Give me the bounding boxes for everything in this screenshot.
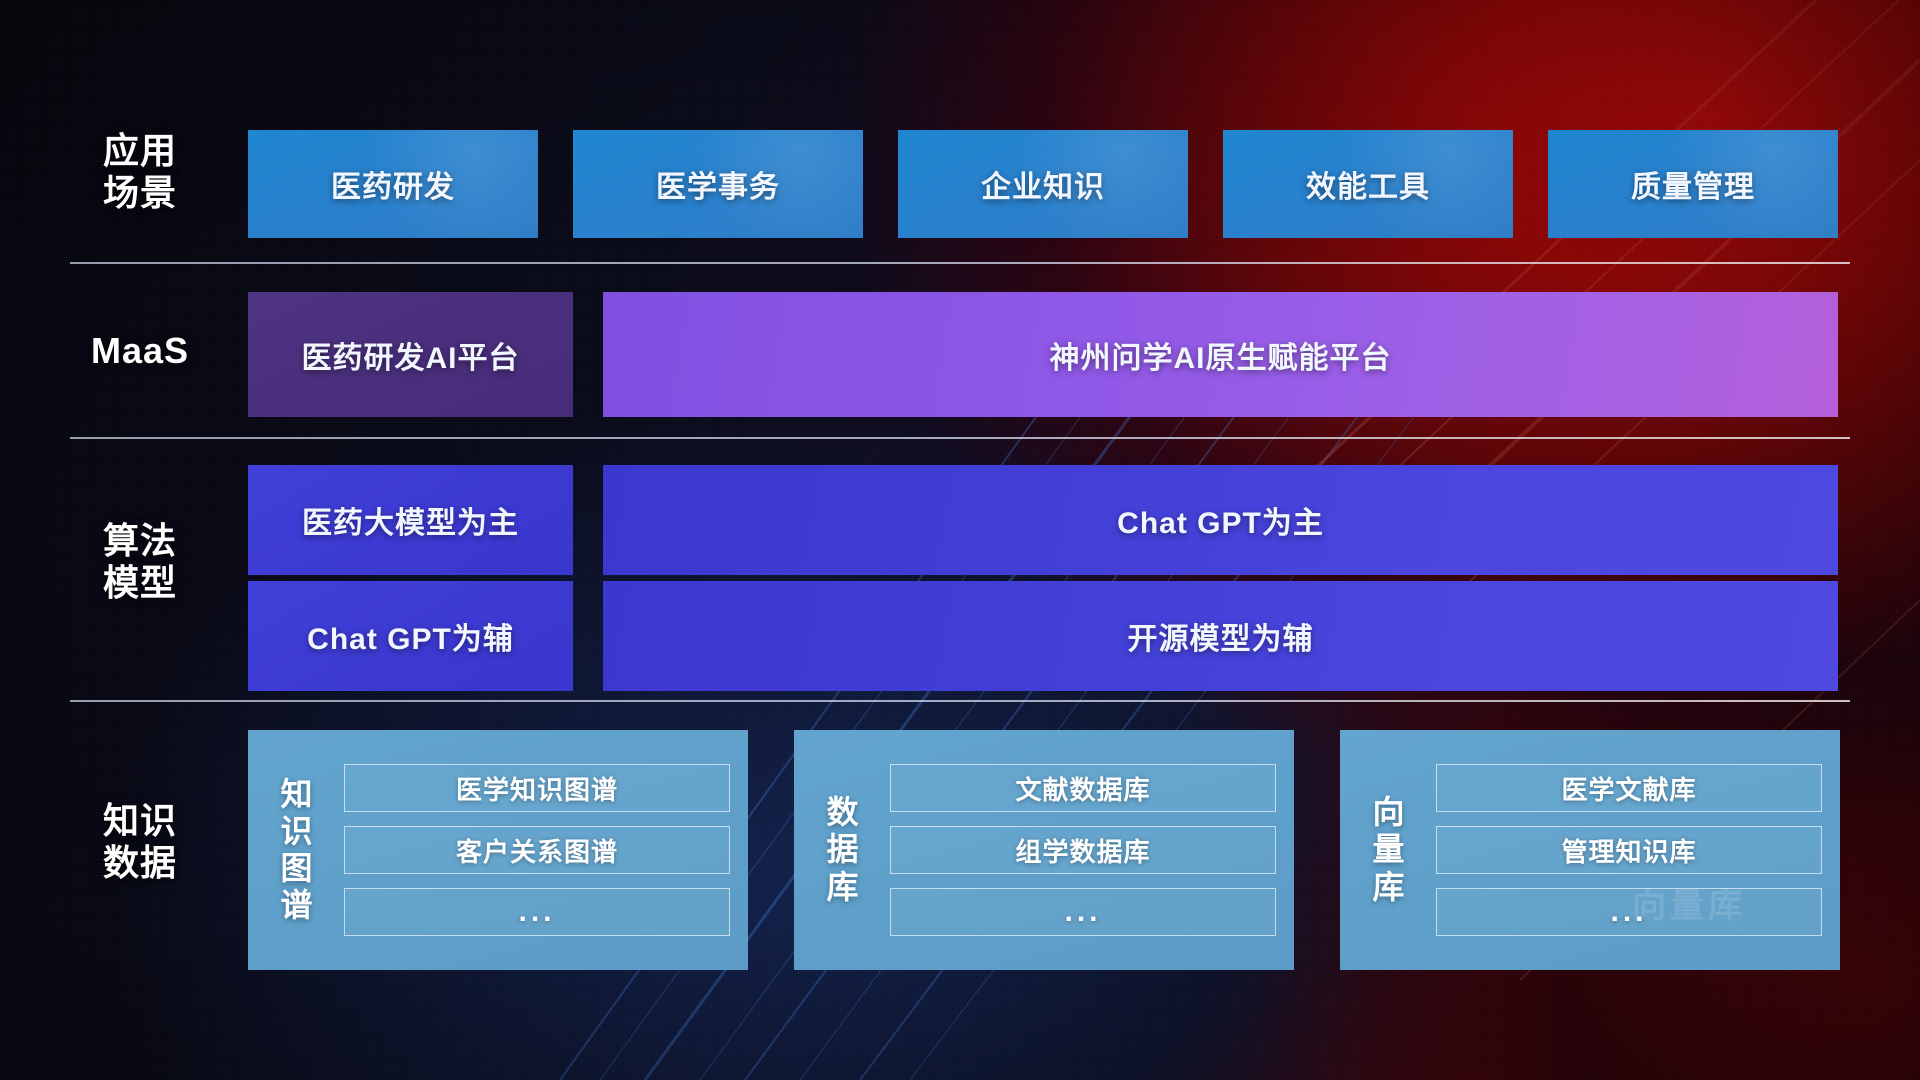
maas-box-drug-rd-ai-platform[interactable]: 医药研发AI平台 — [248, 292, 573, 417]
divider-algorithm-knowledge — [70, 700, 1850, 702]
row-label-application-scenarios: 应用 场景 — [70, 130, 210, 215]
algo-box-drug-large-model-primary[interactable]: 医药大模型为主 — [248, 465, 573, 575]
knowledge-group-graph-title: 知 识 图 谱 — [248, 776, 340, 924]
knowledge-group-graph-items: 医学知识图谱 客户关系图谱 ... — [340, 748, 748, 952]
knowledge-group-vector-store[interactable]: 向 量 库 医学文献库 管理知识库 ... 向量库 — [1340, 730, 1840, 970]
knowledge-group-vector-store-title: 向 量 库 — [1340, 794, 1432, 905]
maas-box-shenzhou-wenxue-platform[interactable]: 神州问学AI原生赋能平台 — [603, 292, 1838, 417]
knowledge-item-more-vector[interactable]: ... — [1436, 888, 1822, 936]
divider-maas-algorithm — [70, 437, 1850, 439]
knowledge-item-management-knowledge-store[interactable]: 管理知识库 — [1436, 826, 1822, 874]
knowledge-item-medical-knowledge-graph[interactable]: 医学知识图谱 — [344, 764, 730, 812]
knowledge-group-graph[interactable]: 知 识 图 谱 医学知识图谱 客户关系图谱 ... — [248, 730, 748, 970]
knowledge-item-more-graph[interactable]: ... — [344, 888, 730, 936]
app-box-medical-affairs[interactable]: 医学事务 — [573, 130, 863, 238]
knowledge-item-more-database[interactable]: ... — [890, 888, 1276, 936]
row-label-maas: MaaS — [70, 330, 210, 372]
knowledge-item-omics-database[interactable]: 组学数据库 — [890, 826, 1276, 874]
row-label-knowledge-data: 知识 数据 — [70, 800, 210, 885]
knowledge-group-database-title: 数 据 库 — [794, 794, 886, 905]
algo-box-open-source-secondary[interactable]: 开源模型为辅 — [603, 581, 1838, 691]
app-box-drug-rd[interactable]: 医药研发 — [248, 130, 538, 238]
row-label-algorithm-model: 算法 模型 — [70, 520, 210, 605]
divider-application-maas — [70, 262, 1850, 264]
knowledge-group-database[interactable]: 数 据 库 文献数据库 组学数据库 ... — [794, 730, 1294, 970]
app-box-efficiency-tools[interactable]: 效能工具 — [1223, 130, 1513, 238]
app-box-quality-management[interactable]: 质量管理 — [1548, 130, 1838, 238]
knowledge-item-medical-literature-store[interactable]: 医学文献库 — [1436, 764, 1822, 812]
algo-box-chatgpt-primary[interactable]: Chat GPT为主 — [603, 465, 1838, 575]
knowledge-item-customer-relation-graph[interactable]: 客户关系图谱 — [344, 826, 730, 874]
knowledge-group-vector-store-items: 医学文献库 管理知识库 ... — [1432, 748, 1840, 952]
app-box-enterprise-knowledge[interactable]: 企业知识 — [898, 130, 1188, 238]
architecture-diagram-slide: 应用 场景 医药研发 医学事务 企业知识 效能工具 质量管理 MaaS 医药研发… — [0, 0, 1920, 1080]
knowledge-item-literature-database[interactable]: 文献数据库 — [890, 764, 1276, 812]
algo-box-chatgpt-secondary[interactable]: Chat GPT为辅 — [248, 581, 573, 691]
knowledge-group-database-items: 文献数据库 组学数据库 ... — [886, 748, 1294, 952]
